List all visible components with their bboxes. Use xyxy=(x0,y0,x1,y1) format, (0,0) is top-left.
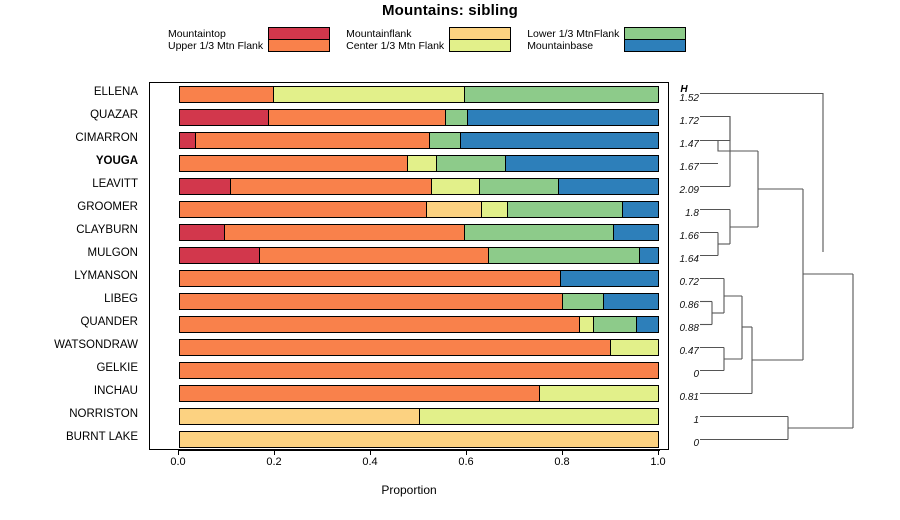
stacked-bar xyxy=(179,247,659,264)
legend-swatch xyxy=(269,28,329,39)
axis-tick-label: 0.2 xyxy=(254,456,294,468)
bar-segment xyxy=(180,294,562,309)
h-value: 0 xyxy=(669,369,699,380)
stacked-bar xyxy=(179,362,659,379)
bar-segment xyxy=(445,110,467,125)
h-column: H 1.521.721.471.672.091.81.661.640.720.8… xyxy=(669,82,703,450)
bar-segment xyxy=(622,202,658,217)
bar-segment xyxy=(180,363,658,378)
bars-area xyxy=(179,83,659,451)
stacked-bar xyxy=(179,316,659,333)
bar-segment xyxy=(560,271,658,286)
bar-segment xyxy=(460,133,658,148)
bar-segment xyxy=(539,386,659,401)
legend-swatch xyxy=(625,39,685,51)
category-label: MULGON xyxy=(0,247,138,259)
stacked-bar xyxy=(179,270,659,287)
category-label: LIBEG xyxy=(0,293,138,305)
bar-segment xyxy=(610,340,658,355)
bar-segment xyxy=(613,225,658,240)
dendrogram-svg xyxy=(700,82,895,450)
axis-tick-label: 1.0 xyxy=(638,456,678,468)
h-value: 0.81 xyxy=(669,392,699,403)
bar-segment xyxy=(180,225,224,240)
legend-swatches xyxy=(268,27,330,52)
legend: MountaintopUpper 1/3 Mtn FlankMountainfl… xyxy=(168,27,702,52)
bar-segment xyxy=(180,179,230,194)
category-label: INCHAU xyxy=(0,385,138,397)
bar-segment xyxy=(180,110,268,125)
h-value: 1.67 xyxy=(669,162,699,173)
category-label: NORRISTON xyxy=(0,408,138,420)
bar-segment xyxy=(259,248,488,263)
bar-segment xyxy=(464,225,612,240)
stacked-bar xyxy=(179,132,659,149)
axis-tick-label: 0.4 xyxy=(350,456,390,468)
category-label: WATSONDRAW xyxy=(0,339,138,351)
bar-row xyxy=(179,313,659,336)
legend-labels: Lower 1/3 MtnFlankMountainbase xyxy=(527,28,619,52)
h-value: 1.72 xyxy=(669,116,699,127)
bar-segment xyxy=(507,202,622,217)
h-value: 0 xyxy=(669,438,699,449)
bar-row xyxy=(179,382,659,405)
bar-segment xyxy=(180,87,273,102)
bar-segment xyxy=(603,294,658,309)
legend-label: Center 1/3 Mtn Flank xyxy=(346,40,444,52)
category-label: LYMANSON xyxy=(0,270,138,282)
stacked-bar xyxy=(179,86,659,103)
stacked-bar xyxy=(179,339,659,356)
bar-segment xyxy=(505,156,658,171)
h-value: 1.64 xyxy=(669,254,699,265)
axis-tick-label: 0.8 xyxy=(542,456,582,468)
bar-row xyxy=(179,152,659,175)
bar-segment xyxy=(180,317,579,332)
legend-swatch xyxy=(450,39,510,51)
h-value: 0.72 xyxy=(669,277,699,288)
axis-tick xyxy=(658,450,659,455)
bar-segment xyxy=(639,248,658,263)
bar-segment xyxy=(636,317,658,332)
legend-group-0: MountaintopUpper 1/3 Mtn Flank xyxy=(168,27,330,52)
category-label: GELKIE xyxy=(0,362,138,374)
bar-segment xyxy=(436,156,505,171)
h-value: 0.47 xyxy=(669,346,699,357)
bar-row xyxy=(179,198,659,221)
category-label: GROOMER xyxy=(0,201,138,213)
legend-swatch xyxy=(450,28,510,39)
bar-row xyxy=(179,244,659,267)
legend-group-2: Lower 1/3 MtnFlankMountainbase xyxy=(527,27,686,52)
bar-segment xyxy=(481,202,507,217)
bar-segment xyxy=(488,248,639,263)
h-value: 1.47 xyxy=(669,139,699,150)
legend-swatch xyxy=(625,28,685,39)
bar-row xyxy=(179,221,659,244)
bar-segment xyxy=(464,87,658,102)
bar-segment xyxy=(419,409,658,424)
bar-row xyxy=(179,405,659,428)
stacked-bar xyxy=(179,201,659,218)
bar-segment xyxy=(479,179,558,194)
category-labels: ELLENAQUAZARCIMARRONYOUGALEAVITTGROOMERC… xyxy=(0,82,146,450)
category-label: LEAVITT xyxy=(0,178,138,190)
axis-tick xyxy=(562,450,563,455)
bar-segment xyxy=(593,317,636,332)
axis-tick-label: 0.0 xyxy=(158,456,198,468)
stacked-bar xyxy=(179,109,659,126)
h-value: 1.66 xyxy=(669,231,699,242)
page-title: Mountains: sibling xyxy=(0,2,900,19)
bar-row xyxy=(179,290,659,313)
legend-label: Upper 1/3 Mtn Flank xyxy=(168,40,263,52)
stacked-bar xyxy=(179,431,659,448)
stacked-bar xyxy=(179,408,659,425)
legend-label: Mountaintop xyxy=(168,28,263,40)
x-axis-label: Proportion xyxy=(149,483,669,497)
axis-tick xyxy=(370,450,371,455)
bar-segment xyxy=(230,179,431,194)
bar-segment xyxy=(426,202,481,217)
bar-segment xyxy=(579,317,593,332)
legend-swatches xyxy=(449,27,511,52)
bar-row xyxy=(179,267,659,290)
bar-segment xyxy=(180,432,658,447)
category-label: CLAYBURN xyxy=(0,224,138,236)
category-label: BURNT LAKE xyxy=(0,431,138,443)
category-label: YOUGA xyxy=(0,155,138,167)
axis-tick-label: 0.6 xyxy=(446,456,486,468)
bar-segment xyxy=(558,179,658,194)
bar-row xyxy=(179,83,659,106)
axis-tick xyxy=(274,450,275,455)
category-label: CIMARRON xyxy=(0,132,138,144)
axis-tick xyxy=(178,450,179,455)
bar-row xyxy=(179,359,659,382)
bar-segment xyxy=(431,179,479,194)
bar-row xyxy=(179,129,659,152)
dendrogram xyxy=(700,82,895,450)
bar-row xyxy=(179,336,659,359)
axis-line xyxy=(178,450,660,451)
bar-row xyxy=(179,428,659,451)
axis-tick xyxy=(466,450,467,455)
bar-segment xyxy=(224,225,464,240)
chart-root: Mountains: sibling MountaintopUpper 1/3 … xyxy=(0,0,900,520)
category-label: QUANDER xyxy=(0,316,138,328)
bar-segment xyxy=(268,110,445,125)
stacked-bar xyxy=(179,178,659,195)
legend-label: Lower 1/3 MtnFlank xyxy=(527,28,619,40)
bar-segment xyxy=(467,110,658,125)
category-label: ELLENA xyxy=(0,86,138,98)
h-value: 0.88 xyxy=(669,323,699,334)
bar-row xyxy=(179,175,659,198)
h-value: 1.8 xyxy=(669,208,699,219)
legend-swatch xyxy=(269,39,329,51)
legend-swatches xyxy=(624,27,686,52)
legend-label: Mountainflank xyxy=(346,28,444,40)
h-value: 1.52 xyxy=(669,93,699,104)
x-axis: 0.00.20.40.60.81.0 xyxy=(178,450,660,464)
bar-segment xyxy=(407,156,436,171)
category-label: QUAZAR xyxy=(0,109,138,121)
bar-segment xyxy=(195,133,428,148)
h-value: 2.09 xyxy=(669,185,699,196)
bar-segment xyxy=(180,202,426,217)
legend-labels: MountaintopUpper 1/3 Mtn Flank xyxy=(168,28,263,52)
bar-segment xyxy=(180,133,195,148)
h-value: 0.86 xyxy=(669,300,699,311)
plot-panel xyxy=(149,82,669,450)
bar-segment xyxy=(180,271,560,286)
h-value: 1 xyxy=(669,415,699,426)
bar-segment xyxy=(273,87,464,102)
stacked-bar xyxy=(179,224,659,241)
bar-segment xyxy=(180,340,610,355)
bar-segment xyxy=(562,294,603,309)
legend-label: Mountainbase xyxy=(527,40,619,52)
bar-segment xyxy=(180,248,259,263)
stacked-bar xyxy=(179,155,659,172)
legend-group-1: MountainflankCenter 1/3 Mtn Flank xyxy=(346,27,511,52)
bar-segment xyxy=(180,156,407,171)
bar-row xyxy=(179,106,659,129)
bar-segment xyxy=(180,386,539,401)
bar-segment xyxy=(180,409,419,424)
bar-segment xyxy=(429,133,460,148)
stacked-bar xyxy=(179,293,659,310)
legend-labels: MountainflankCenter 1/3 Mtn Flank xyxy=(346,28,444,52)
stacked-bar xyxy=(179,385,659,402)
